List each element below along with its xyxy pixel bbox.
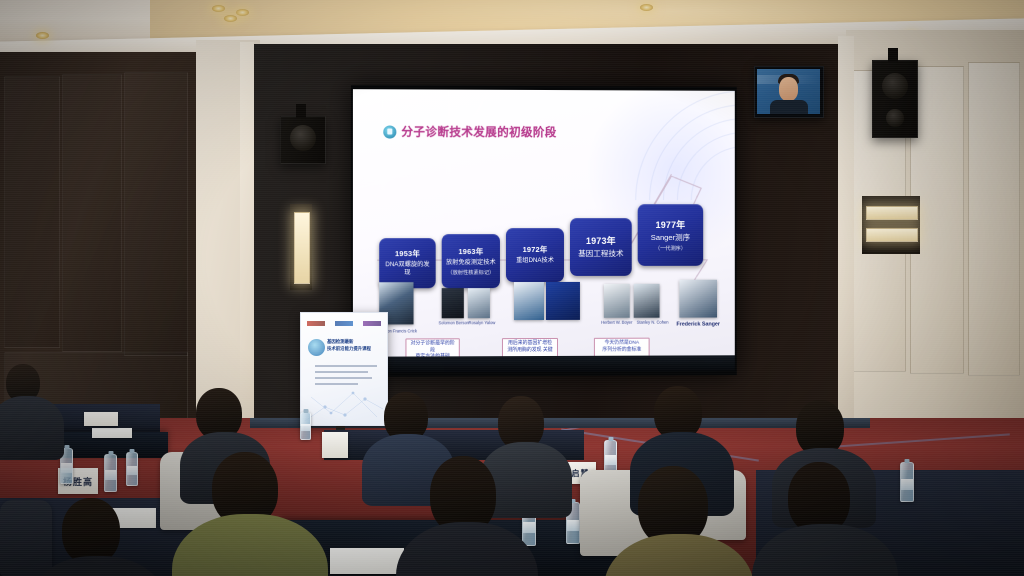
timeline-year: 1963年 (458, 246, 483, 257)
handout-paper (92, 428, 132, 438)
timeline-label: DNA双螺旋的发现 (382, 261, 432, 277)
poster-title: 基因检测最新 技术前沿能力提升课程 (327, 339, 381, 352)
timeline-box: 1973年 基因工程技术 (570, 218, 632, 276)
downlight-icon (236, 9, 249, 16)
loudspeaker-right (872, 60, 918, 138)
pip-video-feed (757, 69, 820, 114)
poster-network-graphic (301, 383, 387, 425)
handout-paper (330, 548, 404, 574)
wall-pillar (240, 42, 254, 452)
timeline-label: 重组DNA技术 (516, 257, 554, 265)
timeline-label: 基因工程技术 (578, 249, 623, 258)
downlight-icon (212, 5, 225, 12)
wall-sconce-light (866, 206, 918, 220)
pip-speaker-head (779, 77, 798, 101)
downlight-icon (224, 15, 237, 22)
portrait-caption: Stanley N. Cohen (632, 320, 674, 325)
portrait-solomon-berson (442, 288, 464, 318)
wall-sconce-light (294, 212, 310, 284)
slide-gel-image (546, 282, 580, 320)
timeline-year: 1953年 (395, 248, 420, 259)
water-bottle (104, 454, 117, 492)
name-card (322, 432, 348, 458)
slide-title: 分子诊断技术发展的初级阶段 (401, 124, 556, 141)
portrait-herbert-boyer (604, 284, 630, 318)
conference-room-photo: 分子诊断技术发展的初级阶段 1953年 DNA双螺旋的发现 1963年 放射免疫… (0, 0, 1024, 576)
water-bottle (126, 452, 138, 486)
downlight-icon (640, 4, 653, 11)
timeline-box: 1953年 DNA双螺旋的发现 (379, 238, 435, 288)
poster-logo-row (307, 319, 381, 327)
timeline-box: 1963年 放射免疫测定技术 （放射性核素标记） (442, 234, 500, 288)
institution-seal-icon (383, 125, 396, 138)
pip-speaker-body (770, 100, 808, 114)
sponsor-logo-icon (335, 321, 353, 326)
portrait-frederick-sanger (679, 280, 717, 318)
audience-chair (0, 500, 52, 576)
wall-pillar (838, 36, 854, 456)
name-card (84, 412, 118, 426)
slide-title-row: 分子诊断技术发展的初级阶段 (383, 123, 556, 140)
projection-screen: 分子诊断技术发展的初级阶段 1953年 DNA双螺旋的发现 1963年 放射免疫… (351, 85, 737, 377)
timeline-sublabel: （一代测序） (655, 245, 686, 252)
portrait-caption: Rosalyn Yalow (464, 320, 500, 325)
portrait-rosalyn-yalow (468, 288, 490, 318)
water-bottle (900, 462, 914, 502)
portrait-caption: Frederick Sanger (669, 321, 726, 327)
slide-surface: 分子诊断技术发展的初级阶段 1953年 DNA双螺旋的发现 1963年 放射免疫… (353, 89, 735, 373)
timeline-box: 1972年 重组DNA技术 (506, 228, 564, 282)
loudspeaker-left (280, 116, 326, 164)
portrait-recombinant-dna (514, 282, 544, 320)
timeline-year: 1973年 (586, 234, 616, 247)
downlight-icon (36, 32, 49, 39)
poster-emblem-icon (308, 339, 325, 356)
sconce-backplate (862, 196, 920, 254)
timeline-sublabel: （放射性核素标记） (447, 269, 494, 276)
timeline-year: 1977年 (656, 218, 686, 231)
event-poster: 基因检测最新 技术前沿能力提升课程 (300, 312, 388, 426)
wall-sconce-light (866, 228, 918, 242)
speaker-mount (888, 48, 898, 62)
timeline-label: 放射免疫测定技术 (446, 259, 496, 267)
speaker-mount (296, 104, 306, 118)
timeline-label: Sanger测序 (651, 233, 690, 242)
remote-speaker-monitor (754, 66, 824, 118)
screen-bottom-shadow (353, 355, 735, 373)
portrait-stanley-cohen (634, 284, 660, 318)
sponsor-logo-icon (363, 321, 381, 326)
sponsor-logo-icon (307, 321, 325, 326)
timeline-box: 1977年 Sanger测序 （一代测序） (638, 204, 703, 266)
water-bottle (300, 412, 311, 440)
timeline-year: 1972年 (523, 244, 548, 255)
